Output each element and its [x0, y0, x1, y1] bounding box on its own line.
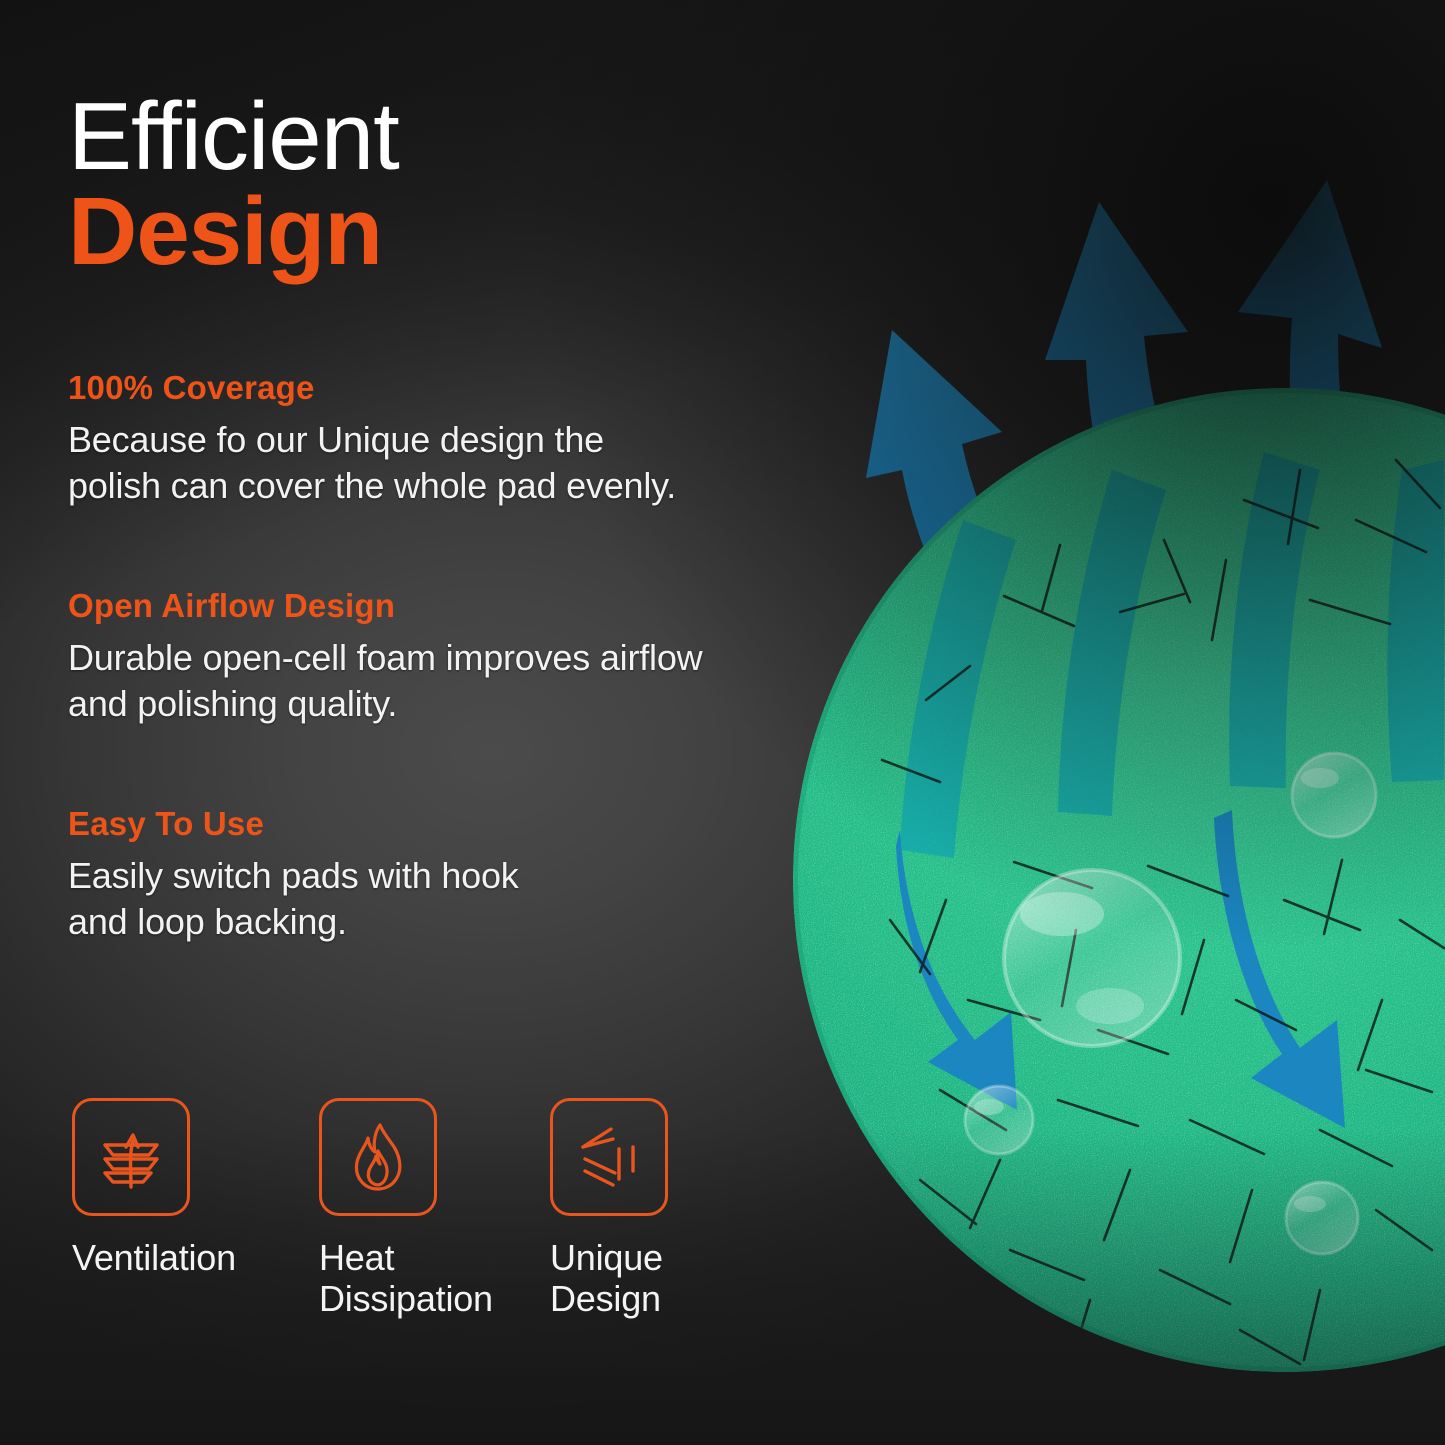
- bubble-medium: [1292, 753, 1376, 837]
- feature-heading-easy-to-use: Easy To Use: [68, 805, 908, 843]
- badge-icon-frame-ventilation: [72, 1098, 190, 1216]
- badge-ventilation: Ventilation: [72, 1098, 307, 1319]
- badge-icon-frame-unique-design: [550, 1098, 668, 1216]
- bubble-large: [1004, 870, 1180, 1046]
- feature-body-airflow: Durable open-cell foam improves airflow …: [68, 635, 908, 727]
- infographic-canvas: Efficient Design 100% Coverage Because f…: [0, 0, 1445, 1445]
- bubble-small-left: [965, 1086, 1033, 1154]
- feature-badge-row: Ventilation Heat Dissipation: [72, 1098, 777, 1319]
- unique-design-lines-icon: [573, 1121, 645, 1193]
- badge-label-heat-dissipation: Heat Dissipation: [319, 1238, 493, 1319]
- feature-block-easy-to-use: Easy To Use Easily switch pads with hook…: [68, 805, 908, 945]
- feature-heading-coverage: 100% Coverage: [68, 369, 908, 407]
- flame-icon: [342, 1119, 414, 1195]
- badge-label-ventilation: Ventilation: [72, 1238, 236, 1279]
- feature-body-easy-to-use: Easily switch pads with hook and loop ba…: [68, 853, 908, 945]
- feature-block-airflow: Open Airflow Design Durable open-cell fo…: [68, 587, 908, 727]
- feature-body-coverage: Because fo our Unique design the polish …: [68, 417, 908, 509]
- title-line-2: Design: [68, 187, 908, 276]
- bubble-small-right: [1286, 1182, 1358, 1254]
- badge-icon-frame-heat-dissipation: [319, 1098, 437, 1216]
- badge-heat-dissipation: Heat Dissipation: [307, 1098, 542, 1319]
- feature-block-coverage: 100% Coverage Because fo our Unique desi…: [68, 369, 908, 509]
- badge-unique-design: Unique Design: [542, 1098, 777, 1319]
- ventilation-louvers-icon: [93, 1119, 169, 1195]
- feature-heading-airflow: Open Airflow Design: [68, 587, 908, 625]
- page-title: Efficient Design: [68, 92, 908, 277]
- badge-label-unique-design: Unique Design: [550, 1238, 663, 1319]
- title-line-1: Efficient: [68, 92, 908, 181]
- text-column: Efficient Design 100% Coverage Because f…: [68, 92, 908, 945]
